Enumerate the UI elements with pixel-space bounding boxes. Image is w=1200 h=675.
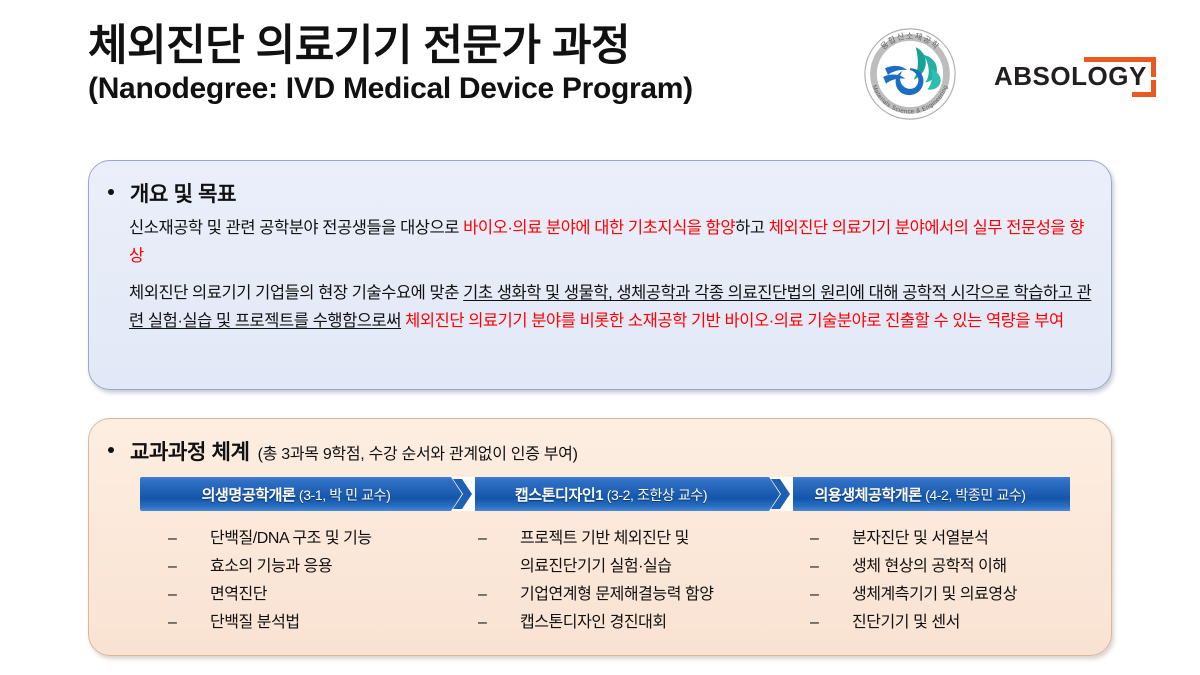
dash-bullet-icon: – bbox=[168, 581, 180, 609]
course-meta-3: (4-2, 박종민 교수) bbox=[922, 487, 1026, 503]
course-chevron-2[interactable]: 캡스톤디자인1 (3-2, 조한상 교수) bbox=[452, 477, 770, 511]
overview-heading: 개요 및 목표 bbox=[108, 178, 236, 208]
course-topic-text: 단백질/DNA 구조 및 기능 bbox=[210, 525, 458, 553]
page-title: 체외진단 의료기기 전문가 과정 bbox=[88, 22, 848, 70]
course-topic-item: –캡스톤디자인 경진대회 bbox=[478, 609, 788, 637]
text-run-0: 신소재공학 및 관련 공학분야 전공생들을 대상으로 bbox=[129, 219, 463, 237]
course-topic-item: –생체계측기기 및 의료영상 bbox=[810, 581, 1075, 609]
absology-logo: ABSOLOGY bbox=[992, 56, 1162, 100]
chevron-notch-left-icon bbox=[769, 477, 791, 511]
course-topic-item: –분자진단 및 서열분석 bbox=[810, 525, 1075, 553]
overview-paragraph-2: 체외진단 의료기기 기업들의 현장 기술수요에 맞춘 기초 생화학 및 생물학,… bbox=[129, 279, 1097, 336]
course-topic-text: 진단기기 및 센서 bbox=[852, 609, 1075, 637]
course-topic-item: –생체 현상의 공학적 이해 bbox=[810, 553, 1075, 581]
course-chevron-label-1: 의생명공학개론 (3-1, 박 민 교수) bbox=[202, 484, 391, 505]
course-topic-text: 캡스톤디자인 경진대회 bbox=[520, 609, 788, 637]
dash-bullet-icon: – bbox=[478, 581, 490, 609]
course-topic-text: 프로젝트 기반 체외진단 및 bbox=[520, 525, 788, 553]
dash-bullet-icon: – bbox=[810, 553, 822, 581]
curriculum-heading-note: (총 3과목 9학점, 수강 순서와 관계없이 인증 부여) bbox=[258, 440, 578, 464]
dash-bullet-icon: – bbox=[168, 525, 180, 553]
course-name-3: 의용생체공학개론 bbox=[814, 487, 921, 504]
text-run-3: 체외진단 의료기기 분야를 비롯한 소재공학 기반 바이오·의료 기술분야로 진… bbox=[405, 312, 1064, 330]
bullet-dot-icon bbox=[108, 447, 114, 453]
overview-heading-label: 개요 및 목표 bbox=[130, 178, 236, 208]
course-topic-item: –진단기기 및 센서 bbox=[810, 609, 1075, 637]
course-chevron-label-3: 의용생체공학개론 (4-2, 박종민 교수) bbox=[814, 484, 1025, 505]
msed-department-logo: 융합신소재공학 Materials Science & Engineering bbox=[862, 26, 958, 122]
dash-bullet-icon: – bbox=[478, 609, 490, 637]
dash-bullet-icon: – bbox=[478, 525, 490, 553]
course-topic-text: 의료진단기기 실험·실습 bbox=[520, 553, 788, 581]
course-topic-item: –단백질 분석법 bbox=[168, 609, 458, 637]
dash-bullet-icon: – bbox=[810, 525, 822, 553]
dash-bullet-icon: – bbox=[168, 609, 180, 637]
course-topic-item: –단백질/DNA 구조 및 기능 bbox=[168, 525, 458, 553]
text-run-0: 체외진단 의료기기 기업들의 현장 기술수요에 맞춘 bbox=[129, 284, 463, 302]
course-chevron-3[interactable]: 의용생체공학개론 (4-2, 박종민 교수) bbox=[770, 477, 1070, 511]
curriculum-heading: 교과과정 체계 (총 3과목 9학점, 수강 순서와 관계없이 인증 부여) bbox=[108, 436, 578, 466]
dash-bullet-icon: – bbox=[810, 609, 822, 637]
course-topic-item: –효소의 기능과 응용 bbox=[168, 553, 458, 581]
course-name-2: 캡스톤디자인1 bbox=[515, 487, 603, 504]
dash-bullet-icon: – bbox=[168, 553, 180, 581]
logo-area: 융합신소재공학 Materials Science & Engineering … bbox=[862, 26, 1162, 126]
dash-bullet-icon: – bbox=[810, 581, 822, 609]
course-topics-column-1: –단백질/DNA 구조 및 기능–효소의 기능과 응용–면역진단–단백질 분석법 bbox=[140, 525, 458, 643]
text-run-2: 하고 bbox=[735, 219, 769, 237]
course-topic-text: 면역진단 bbox=[210, 581, 458, 609]
course-topic-text: 단백질 분석법 bbox=[210, 609, 458, 637]
course-topic-text: 기업연계형 문제해결능력 함양 bbox=[520, 581, 788, 609]
course-meta-1: (3-1, 박 민 교수) bbox=[295, 487, 390, 503]
text-run-1: 바이오·의료 분야에 대한 기초지식을 함양 bbox=[463, 219, 735, 237]
course-topic-text: 효소의 기능과 응용 bbox=[210, 553, 458, 581]
curriculum-heading-label: 교과과정 체계 bbox=[130, 436, 250, 466]
page-subtitle: (Nanodegree: IVD Medical Device Program) bbox=[88, 72, 848, 107]
bullet-dot-icon bbox=[108, 189, 114, 195]
course-meta-2: (3-2, 조한상 교수) bbox=[603, 487, 707, 503]
course-topic-text: 생체 현상의 공학적 이해 bbox=[852, 553, 1075, 581]
overview-body: 신소재공학 및 관련 공학분야 전공생들을 대상으로 바이오·의료 분야에 대한… bbox=[129, 214, 1097, 336]
course-topic-columns: –단백질/DNA 구조 및 기능–효소의 기능과 응용–면역진단–단백질 분석법… bbox=[140, 525, 1075, 643]
overview-paragraph-1: 신소재공학 및 관련 공학분야 전공생들을 대상으로 바이오·의료 분야에 대한… bbox=[129, 214, 1097, 271]
course-topic-item: –기업연계형 문제해결능력 함양 bbox=[478, 581, 788, 609]
slide-header: 체외진단 의료기기 전문가 과정 (Nanodegree: IVD Medica… bbox=[0, 0, 1200, 145]
course-topic-item: –프로젝트 기반 체외진단 및의료진단기기 실험·실습 bbox=[478, 525, 788, 581]
title-block: 체외진단 의료기기 전문가 과정 (Nanodegree: IVD Medica… bbox=[88, 22, 848, 107]
course-flow-bar: 의생명공학개론 (3-1, 박 민 교수)캡스톤디자인1 (3-2, 조한상 교… bbox=[140, 477, 1070, 511]
absology-wordmark-text: ABSOLOGY bbox=[994, 61, 1147, 92]
course-topics-column-2: –프로젝트 기반 체외진단 및의료진단기기 실험·실습–기업연계형 문제해결능력… bbox=[458, 525, 788, 643]
course-name-1: 의생명공학개론 bbox=[202, 487, 296, 504]
course-topic-item: –면역진단 bbox=[168, 581, 458, 609]
course-chevron-1[interactable]: 의생명공학개론 (3-1, 박 민 교수) bbox=[140, 477, 452, 511]
course-chevron-label-2: 캡스톤디자인1 (3-2, 조한상 교수) bbox=[515, 484, 707, 505]
chevron-notch-left-icon bbox=[451, 477, 473, 511]
course-topics-column-3: –분자진단 및 서열분석–생체 현상의 공학적 이해–생체계측기기 및 의료영상… bbox=[788, 525, 1075, 643]
course-topic-text: 분자진단 및 서열분석 bbox=[852, 525, 1075, 553]
course-topic-text: 생체계측기기 및 의료영상 bbox=[852, 581, 1075, 609]
